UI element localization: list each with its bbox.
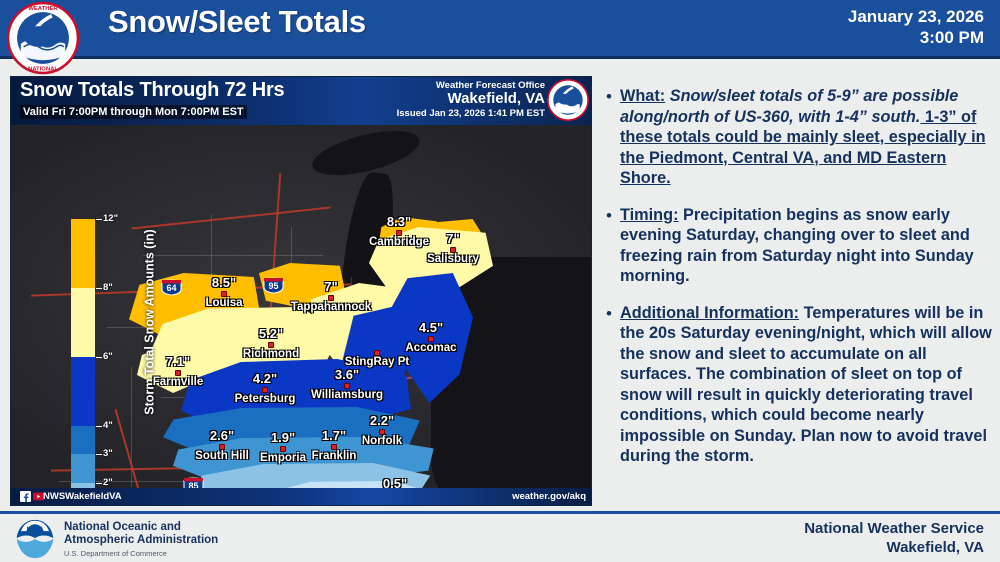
city-name: Richmond bbox=[233, 348, 309, 361]
city-name: South Hill bbox=[185, 450, 259, 463]
bullet-timing: • Timing: Precipitation begins as snow e… bbox=[606, 205, 994, 287]
snow-value: 7.1" bbox=[144, 355, 212, 369]
colorbar-label: 8" bbox=[103, 282, 113, 293]
footer-office-line-1: National Weather Service bbox=[804, 519, 984, 538]
map-header-strip: Snow Totals Through 72 Hrs Valid Fri 7:0… bbox=[11, 77, 592, 125]
svg-text:NATIONAL: NATIONAL bbox=[28, 67, 58, 73]
footer-office: National Weather Service Wakefield, VA bbox=[804, 519, 984, 557]
header-datetime: January 23, 2026 3:00 PM bbox=[848, 6, 984, 48]
bullet-marker: • bbox=[606, 205, 620, 287]
city-label-tappahannock: 7" Tappahannock bbox=[283, 280, 379, 314]
city-label-franklin: 1.7" Franklin bbox=[300, 429, 368, 463]
bullet-label: What: bbox=[620, 87, 665, 105]
colorbar-label: 6" bbox=[103, 351, 113, 362]
shield-number: 64 bbox=[161, 283, 182, 293]
snow-value: 7" bbox=[417, 232, 489, 246]
bullet-label: Additional Information: bbox=[620, 304, 799, 322]
footer-office-line-2: Wakefield, VA bbox=[804, 538, 984, 557]
briefing-text-panel: • What: Snow/sleet totals of 5-9” are po… bbox=[606, 86, 994, 483]
colorbar-tick bbox=[96, 454, 102, 455]
bullet-marker: • bbox=[606, 303, 620, 467]
snow-value: 2.2" bbox=[349, 414, 415, 428]
facebook-icon[interactable] bbox=[20, 491, 31, 502]
colorbar-legend: 12" 8" 6" 4" 3" 2" 1" 0" Storm Total Sno… bbox=[71, 219, 95, 506]
colorbar-seg-4 bbox=[71, 426, 95, 454]
snow-value: 4.5" bbox=[395, 321, 467, 335]
bullet-body: Additional Information: Temperatures wil… bbox=[620, 303, 994, 467]
map-valid-time: Valid Fri 7:00PM through Mon 7:00PM EST bbox=[20, 105, 247, 119]
city-label-farmville: 7.1" Farmville bbox=[144, 355, 212, 389]
city-label-south-hill: 2.6" South Hill bbox=[185, 429, 259, 463]
city-name: Franklin bbox=[300, 450, 368, 463]
city-label-williamsburg: 3.6" Williamsburg bbox=[301, 368, 393, 402]
social-handle[interactable]: NWSWakefieldVA bbox=[43, 491, 122, 502]
noaa-logo-icon: NOAA bbox=[13, 519, 57, 559]
shield-number: 95 bbox=[263, 281, 284, 291]
noaa-line-2: Atmospheric Administration bbox=[64, 534, 218, 547]
noaa-line-1: National Oceanic and bbox=[64, 521, 218, 534]
bullet-additional-information: • Additional Information: Temperatures w… bbox=[606, 303, 994, 467]
nws-seal-icon bbox=[547, 79, 589, 121]
city-label-stingray-pt: StingRay Pt bbox=[339, 349, 415, 369]
footer-rule bbox=[0, 511, 1000, 514]
colorbar-seg-3 bbox=[71, 454, 95, 483]
snow-value: 1.7" bbox=[300, 429, 368, 443]
colorbar-label: 12" bbox=[103, 213, 118, 224]
interstate-shield-95-north: 95 bbox=[263, 277, 284, 294]
interstate-shield-64: 64 bbox=[161, 279, 182, 296]
header-time: 3:00 PM bbox=[848, 27, 984, 48]
header-date: January 23, 2026 bbox=[848, 6, 984, 27]
map-title: Snow Totals Through 72 Hrs bbox=[20, 79, 284, 102]
snow-value: 2.6" bbox=[185, 429, 259, 443]
bullet-label: Timing: bbox=[620, 206, 679, 224]
shield-number: 95 bbox=[237, 505, 258, 506]
nws-seal-icon: WEATHER NATIONAL bbox=[6, 1, 80, 75]
svg-text:WEATHER: WEATHER bbox=[28, 6, 58, 12]
snow-value: 7" bbox=[283, 280, 379, 294]
snow-value: 5.2" bbox=[233, 327, 309, 341]
colorbar-label: 4" bbox=[103, 420, 113, 431]
map-footer-strip: NWSWakefieldVA weather.gov/akq bbox=[11, 488, 592, 505]
city-name: Tappahannock bbox=[283, 301, 379, 314]
noaa-department: U.S. Department of Commerce bbox=[64, 549, 167, 558]
city-name: Williamsburg bbox=[301, 389, 393, 402]
bullet-what: • What: Snow/sleet totals of 5-9” are po… bbox=[606, 86, 994, 189]
colorbar-seg-8 bbox=[71, 288, 95, 357]
weather-briefing-page: WEATHER NATIONAL Snow/Sleet Totals Janua… bbox=[0, 0, 1000, 562]
colorbar-tick bbox=[96, 219, 102, 220]
city-label-salisbury: 7" Salisbury bbox=[417, 232, 489, 266]
colorbar-seg-6 bbox=[71, 357, 95, 426]
snow-value: 3.6" bbox=[301, 368, 393, 382]
colorbar-seg-12 bbox=[71, 219, 95, 288]
colorbar-label: 2" bbox=[103, 477, 113, 488]
snow-value: 8.3" bbox=[359, 215, 439, 229]
state-line-va-md bbox=[143, 255, 323, 256]
wfo-info: Weather Forecast Office Wakefield, VA Is… bbox=[397, 80, 545, 119]
city-label-petersburg: 4.2" Petersburg bbox=[224, 372, 306, 406]
city-name: Salisbury bbox=[417, 253, 489, 266]
bullet-body: Timing: Precipitation begins as snow ear… bbox=[620, 205, 994, 287]
snow-value: 8.5" bbox=[189, 276, 259, 290]
city-label-louisa: 8.5" Louisa bbox=[189, 276, 259, 310]
city-label-richmond: 5.2" Richmond bbox=[233, 327, 309, 361]
website-url[interactable]: weather.gov/akq bbox=[512, 491, 586, 502]
city-name: Farmville bbox=[144, 376, 212, 389]
bullet-rest: Temperatures will be in the 20s Saturday… bbox=[620, 304, 992, 466]
noaa-agency-name: National Oceanic and Atmospheric Adminis… bbox=[64, 521, 218, 547]
header-underline bbox=[0, 56, 1000, 59]
page-title: Snow/Sleet Totals bbox=[108, 4, 366, 40]
colorbar-tick bbox=[96, 357, 102, 358]
wfo-office-name: Wakefield, VA bbox=[397, 90, 545, 107]
bullet-italic: Snow/sleet totals of 5-9” are possible a… bbox=[620, 87, 958, 126]
snow-totals-map[interactable]: 12" 8" 6" 4" 3" 2" 1" 0" Storm Total Sno… bbox=[10, 76, 592, 506]
snow-value: 4.2" bbox=[224, 372, 306, 386]
map-issued-time: Issued Jan 23, 2026 1:41 PM EST bbox=[397, 108, 545, 119]
svg-text:NOAA: NOAA bbox=[27, 526, 44, 532]
city-name: Petersburg bbox=[224, 393, 306, 406]
bullet-body: What: Snow/sleet totals of 5-9” are poss… bbox=[620, 86, 994, 189]
colorbar-gradient bbox=[71, 219, 95, 506]
colorbar-label: 3" bbox=[103, 448, 113, 459]
colorbar-tick bbox=[96, 426, 102, 427]
colorbar-tick bbox=[96, 288, 102, 289]
bullet-marker: • bbox=[606, 86, 620, 189]
colorbar-tick bbox=[96, 483, 102, 484]
city-name: Louisa bbox=[189, 297, 259, 310]
